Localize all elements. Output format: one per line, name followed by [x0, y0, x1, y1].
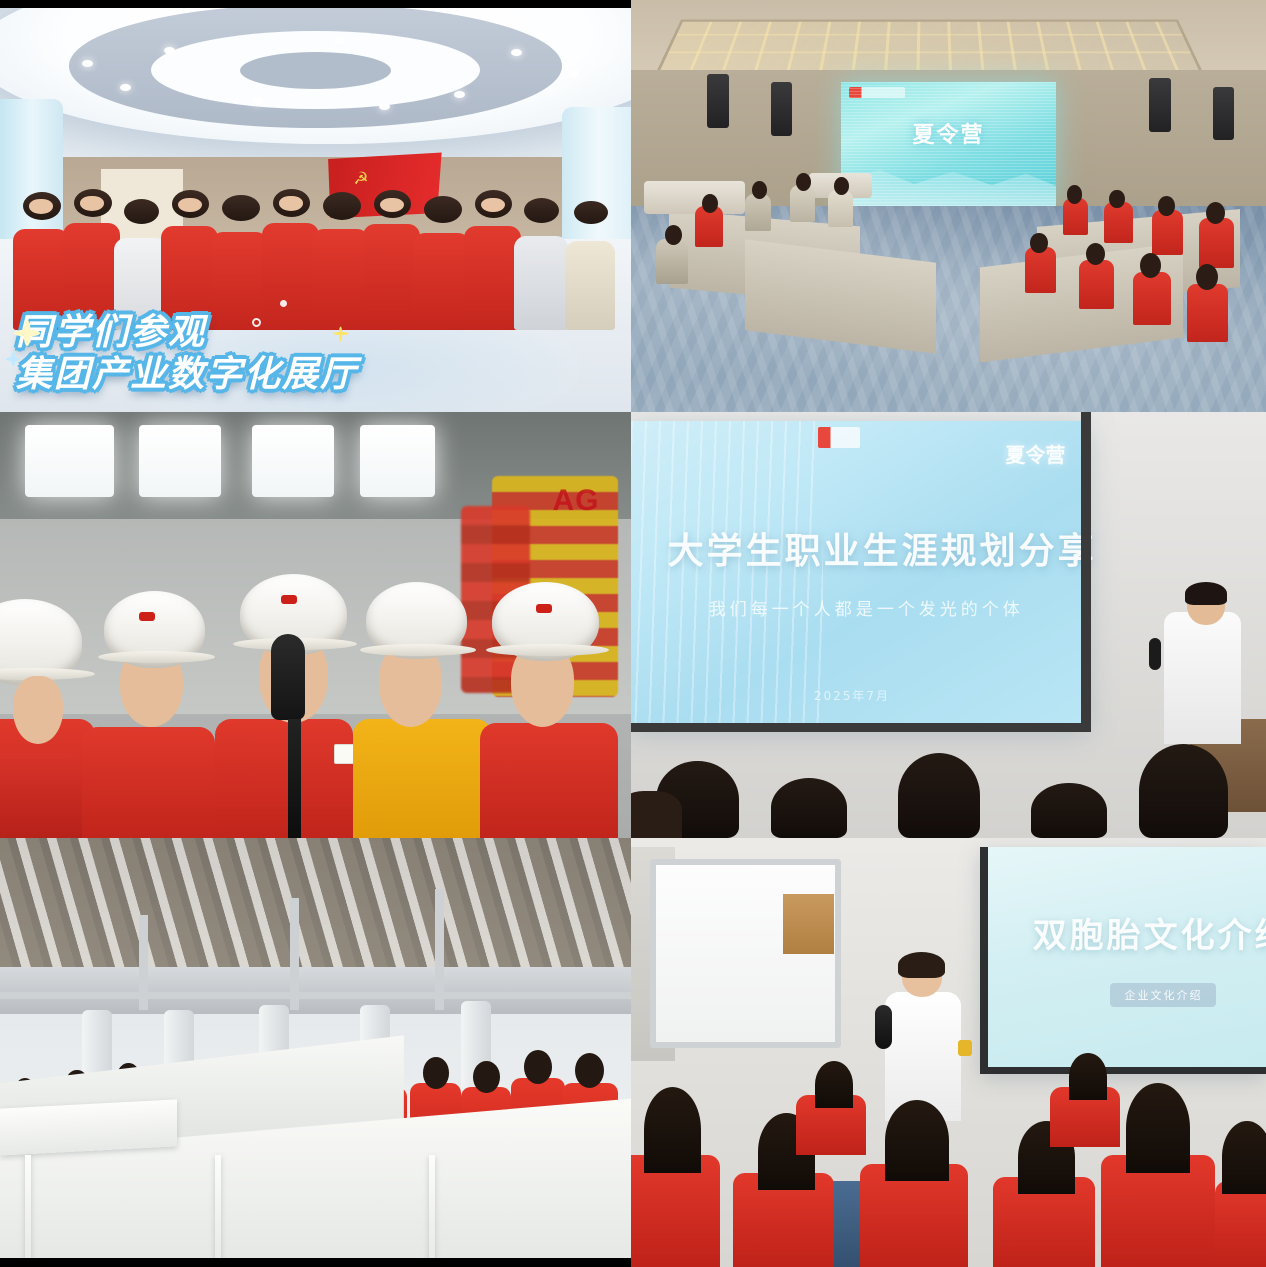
symposium-photo: 夏令营 [631, 0, 1266, 412]
round-table [644, 181, 746, 214]
panel-symposium[interactable]: 夏令营 [631, 0, 1266, 412]
screen-frame [631, 412, 1091, 732]
ring-decoration [252, 318, 261, 327]
panel-showroom[interactable]: ☭ [0, 0, 631, 412]
badge-icon [958, 1040, 972, 1056]
culture-photo: 双胞胎文化介绍 企业文化介绍 [631, 838, 1266, 1267]
panel-career-talk[interactable]: 夏令营 大学生职业生涯规划分享 我们每一个人都是一个发光的个体 2025年7月 … [631, 412, 1266, 838]
pen-post [25, 1155, 31, 1267]
pen-post [429, 1155, 435, 1267]
ventilation-duct [0, 967, 631, 1014]
microphone-head [271, 634, 305, 720]
feedmill-photo: AG [0, 412, 631, 838]
screen-skyline-graphic [841, 154, 1057, 206]
panel-smart-pighouse[interactable]: 智能化猪舍 « « [0, 838, 631, 1267]
roof-window [360, 425, 436, 497]
speaker-box [1213, 87, 1235, 141]
bag-label: AG [552, 484, 599, 518]
audience-head [631, 791, 682, 838]
pen-post [215, 1155, 221, 1267]
roof-window [25, 425, 113, 497]
pighouse-photo [0, 838, 631, 1267]
downlight [379, 103, 390, 110]
caption-showroom: 同学们参观 集团产业数字化展厅 [16, 312, 358, 397]
roof-window [139, 425, 221, 497]
photo-collage: ☭ [0, 0, 1266, 1267]
caption-line: 集团产业数字化展厅 [16, 354, 358, 396]
career-talk-photo: 夏令营 大学生职业生涯规划分享 我们每一个人都是一个发光的个体 2025年7月 [631, 412, 1266, 838]
speaker-body [1164, 612, 1240, 744]
downlight [568, 70, 579, 77]
speaker-microphone [1149, 638, 1161, 670]
roof-beam [0, 992, 631, 999]
cork-board [783, 894, 834, 954]
microphone-handle [288, 719, 301, 838]
presenter-microphone [875, 1005, 892, 1049]
ceiling-center-disc [240, 52, 391, 89]
letterbox-bottom [0, 1258, 631, 1267]
speaker-box [707, 74, 729, 128]
letterbox-top [0, 0, 631, 8]
whiteboard [650, 859, 841, 1048]
caption-line: 同学们参观 [16, 312, 358, 354]
led-screen: 夏令营 [841, 82, 1057, 206]
panel-feedmill[interactable]: AG [0, 412, 631, 838]
screen-title: 夏令营 [912, 117, 984, 149]
downlight [82, 60, 93, 67]
ceiling-light-grid [656, 20, 1203, 73]
roof-window [252, 425, 334, 497]
panel-culture[interactable]: 双胞胎文化介绍 企业文化介绍 [631, 838, 1266, 1267]
student-crowd [0, 181, 631, 329]
downlight [454, 91, 465, 98]
dot-decoration [280, 300, 287, 307]
pen-partition [0, 1099, 177, 1155]
screen-title: 双胞胎文化介绍 [1033, 908, 1266, 957]
speaker-box [771, 82, 793, 136]
speaker-box [1149, 78, 1171, 132]
projection-screen: 双胞胎文化介绍 企业文化介绍 [980, 847, 1266, 1074]
screen-tag: 企业文化介绍 [1110, 983, 1216, 1007]
speaker-hair [1185, 582, 1227, 605]
presenter-hair [898, 952, 945, 978]
screen-corner-logo [849, 87, 905, 98]
downlight [511, 49, 522, 56]
